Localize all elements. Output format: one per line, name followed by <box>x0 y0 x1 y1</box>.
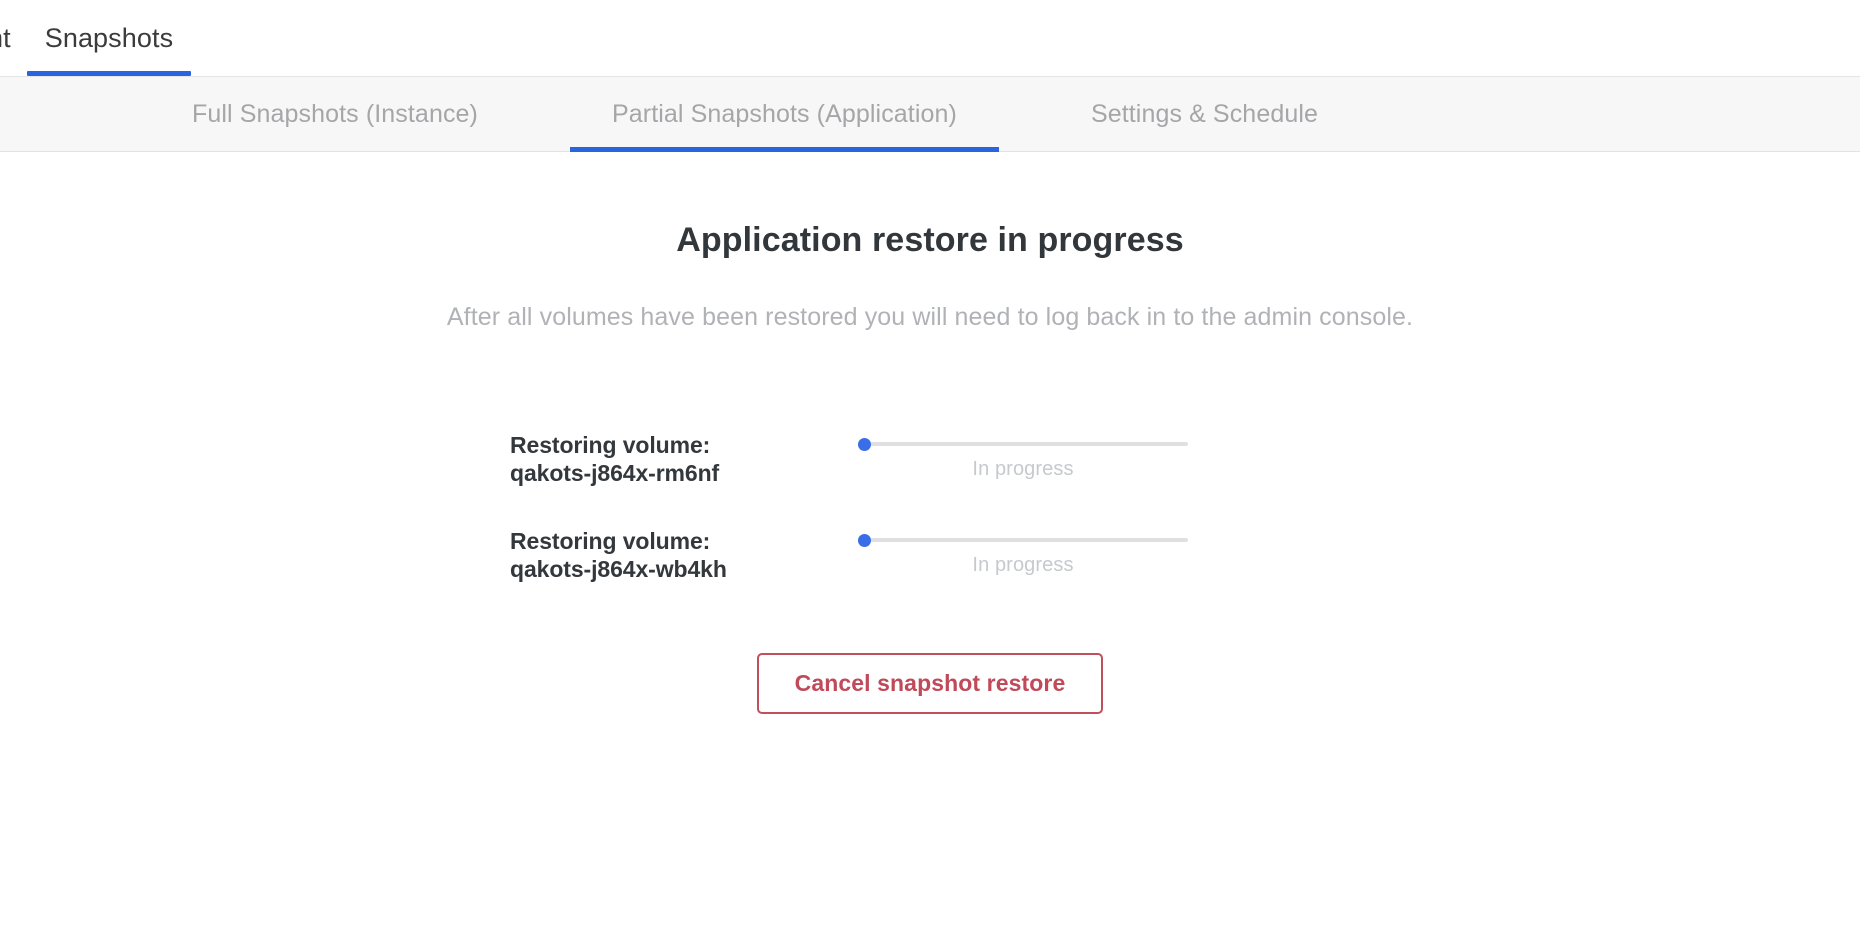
volume-progress: In progress <box>840 429 1350 481</box>
volume-progress: In progress <box>840 525 1350 577</box>
volume-label: Restoring volume: qakots-j864x-wb4kh <box>510 525 840 583</box>
tab-snapshots[interactable]: Snapshots <box>19 0 200 76</box>
volume-name: qakots-j864x-rm6nf <box>510 459 840 487</box>
subtab-full-snapshots-instance[interactable]: Full Snapshots (Instance) <box>150 76 520 152</box>
volume-restore-row: Restoring volume: qakots-j864x-rm6nf In … <box>510 429 1350 487</box>
action-area: Cancel snapshot restore <box>0 653 1860 714</box>
volume-restore-row: Restoring volume: qakots-j864x-wb4kh In … <box>510 525 1350 583</box>
tab-deployment-truncated[interactable]: nt <box>0 0 19 76</box>
progress-track <box>858 442 1188 446</box>
volume-label-prefix: Restoring volume: <box>510 528 710 554</box>
progress-status-text: In progress <box>858 458 1188 481</box>
restore-progress-panel: Application restore in progress After al… <box>0 152 1860 714</box>
progress-knob-icon <box>858 534 871 547</box>
cancel-snapshot-restore-button[interactable]: Cancel snapshot restore <box>757 653 1104 714</box>
progress-knob-icon <box>858 438 871 451</box>
page-title: Application restore in progress <box>0 220 1860 261</box>
subtab-settings-schedule[interactable]: Settings & Schedule <box>1049 76 1360 152</box>
secondary-tab-bar: Full Snapshots (Instance) Partial Snapsh… <box>0 76 1860 152</box>
volume-name: qakots-j864x-wb4kh <box>510 555 840 583</box>
progress-track <box>858 538 1188 542</box>
subtab-partial-snapshots-application[interactable]: Partial Snapshots (Application) <box>570 76 999 152</box>
volume-label-prefix: Restoring volume: <box>510 432 710 458</box>
volume-restore-list: Restoring volume: qakots-j864x-rm6nf In … <box>0 429 1860 583</box>
progress-status-text: In progress <box>858 554 1188 577</box>
page-subtitle: After all volumes have been restored you… <box>0 301 1860 334</box>
volume-label: Restoring volume: qakots-j864x-rm6nf <box>510 429 840 487</box>
primary-tab-bar: nt Snapshots <box>0 0 1860 76</box>
